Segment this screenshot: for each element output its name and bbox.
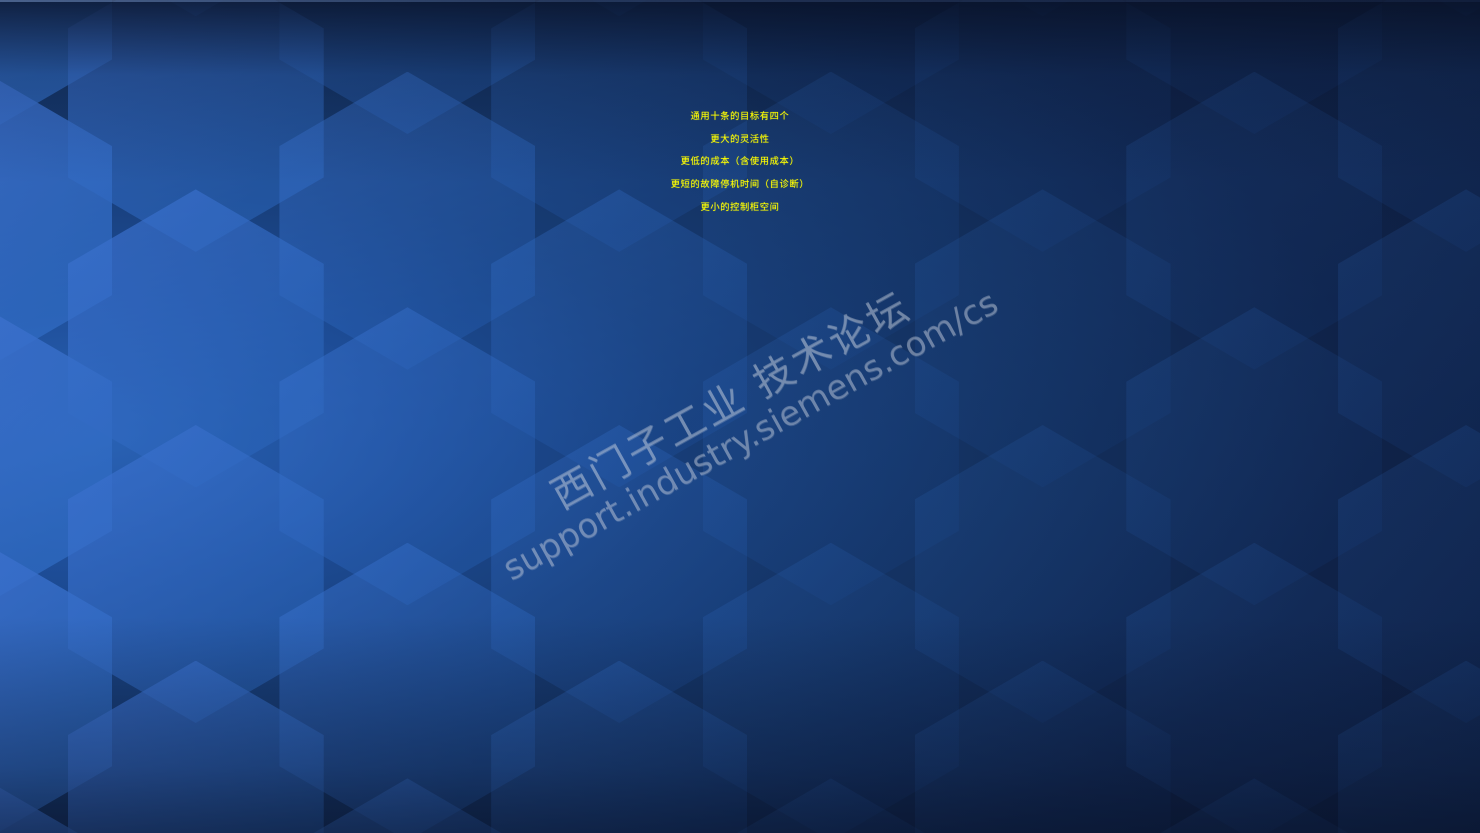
hexagon-cell — [1338, 0, 1480, 16]
slide-text-line-1: 通用十条的目标有四个 — [0, 112, 1480, 123]
slide-text-line-2: 更大的灵活性 — [0, 133, 1480, 147]
hexagon-cell — [68, 0, 324, 16]
slide-text-line-3: 更低的成本（含使用成本） — [0, 156, 1480, 169]
hexagon-cell — [1338, 661, 1480, 833]
hexagon-cell — [915, 0, 1171, 16]
hexagon-cell — [1338, 189, 1480, 487]
hexagon-cell — [1126, 543, 1382, 833]
slide-text-line-4: 更短的故障停机时间（自诊断） — [0, 179, 1480, 192]
top-edge-highlight — [0, 0, 1480, 2]
hexagon-cell — [0, 307, 112, 605]
hexagon-cell — [68, 661, 324, 833]
hexagon-cell — [703, 307, 959, 605]
slide-text-line-5: 更小的控制柜空间 — [0, 202, 1480, 215]
watermark-forum-name: 西门子工业 技术论坛 — [476, 246, 987, 556]
watermark-url: support.industry.siemens.com/cs — [497, 283, 1005, 587]
hexagon-cell — [491, 0, 747, 16]
hexagon-cell — [68, 425, 324, 723]
hexagon-cell — [491, 425, 747, 723]
hexagon-cell — [915, 189, 1171, 487]
hexagon-cell — [279, 543, 535, 833]
watermark: 西门子工业 技术论坛 support.industry.siemens.com/… — [476, 246, 1004, 588]
hexagon-cell — [0, 778, 112, 833]
hexagon-cell — [279, 778, 535, 833]
hexagon-cell — [1126, 778, 1382, 833]
slide-body-text: 通用十条的目标有四个 更大的灵活性 更低的成本（含使用成本） 更短的故障停机时间… — [0, 112, 1480, 215]
hexagon-cell — [491, 189, 747, 487]
hexagon-cell — [0, 543, 112, 833]
hexagon-cell — [491, 661, 747, 833]
hexagon-cell — [1338, 425, 1480, 723]
hexagon-cell — [703, 543, 959, 833]
hexagon-cell — [703, 778, 959, 833]
hexagon-cell — [279, 307, 535, 605]
hexagon-cell — [915, 661, 1171, 833]
presentation-slide: 西门子工业 技术论坛 support.industry.siemens.com/… — [0, 0, 1480, 833]
hexagon-cell — [68, 189, 324, 487]
hexagon-cell — [1126, 307, 1382, 605]
hexagon-cell — [915, 425, 1171, 723]
